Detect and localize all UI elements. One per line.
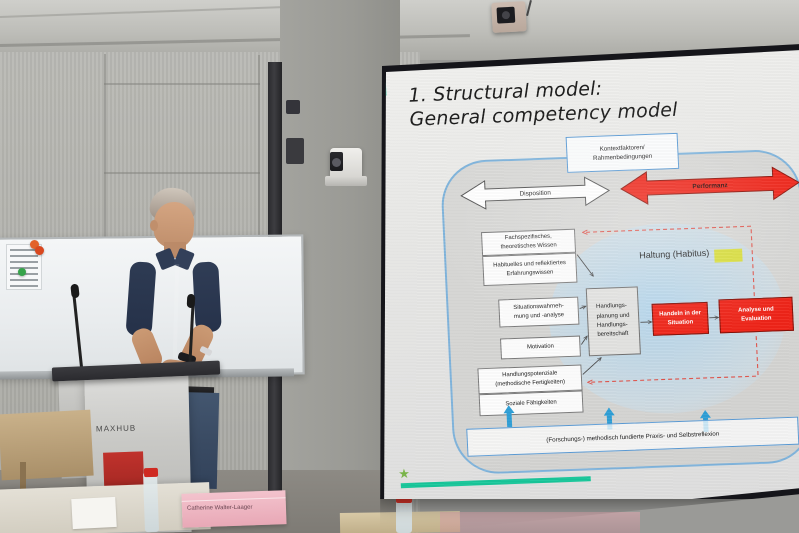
disposition-box: Soziale Fähigkeiten (479, 390, 584, 416)
camera-lens (502, 11, 510, 19)
bottle-cap (144, 468, 158, 477)
presenter-arm (125, 261, 156, 337)
camera-lens (332, 158, 341, 167)
paper-sheet (71, 497, 117, 529)
action-planning-box: Handlungs-planung undHandlungs-bereitsch… (586, 286, 641, 356)
projection-screen: 您正在共享屏幕 ◀)) 共享音频中 ★ 1. Structural model:… (372, 44, 799, 514)
disposition-box: Motivation (500, 336, 581, 360)
whiteboard-magnet (18, 268, 26, 276)
performance-box: Handeln in derSituation (652, 302, 709, 336)
highlight-chip (714, 249, 743, 263)
table-surface-reflection (440, 512, 640, 533)
name-card: Catherine Walter-Laager (181, 490, 286, 528)
presenter-ear (150, 220, 158, 231)
wooden-chair (0, 410, 94, 481)
camera-lens-housing (330, 152, 343, 171)
camera-lens-housing (496, 7, 515, 24)
wall-seam (104, 83, 260, 85)
lectern-brand-label: MAXHUB (96, 424, 140, 436)
presenter-arm (192, 261, 222, 332)
microphone-icon (70, 284, 79, 299)
wall-seam (104, 172, 260, 174)
name-card-fold (182, 497, 286, 502)
slide-title: 1. Structural model: General competency … (408, 73, 740, 133)
water-bottle (143, 472, 159, 532)
disposition-label: Disposition (461, 175, 610, 210)
microphone-icon (187, 294, 196, 308)
photo-scene: MAXHUB Catherine Walter-Laager 您正在共享屏幕 ◀… (0, 0, 799, 533)
disposition-box: Situationswahrneh-mung und -analyse (498, 297, 579, 328)
post-bracket (286, 100, 300, 114)
camera-icon (491, 1, 527, 33)
disposition-arrow-label-wrap: Disposition (461, 175, 610, 210)
name-card-text: Catherine Walter-Laager (187, 504, 283, 512)
post-bracket (286, 138, 304, 164)
performanz-label: Performanz (620, 166, 799, 204)
slide-content: 您正在共享屏幕 ◀)) 共享音频中 ★ 1. Structural model:… (372, 44, 799, 499)
ptz-camera-icon (330, 148, 362, 178)
competency-model-diagram: Kontextfaktoren/Rahmenbedingungen (391, 128, 799, 483)
performance-box: Analyse undEvaluation (718, 297, 794, 334)
screen-surface[interactable]: 您正在共享屏幕 ◀)) 共享音频中 ★ 1. Structural model:… (372, 44, 799, 499)
whiteboard-magnet (35, 246, 44, 255)
reflection-arrow-icon (503, 405, 515, 427)
camera-mount (325, 176, 367, 186)
disposition-box: Fachspezifisches,theoretisches Wissen (481, 229, 576, 256)
performanz-arrow-label-wrap: Performanz (620, 166, 799, 204)
disposition-box: Habituelles und reflektiertesErfahrungsw… (482, 253, 577, 286)
disposition-box: Handlungspotenziale(methodische Fertigke… (477, 365, 582, 395)
